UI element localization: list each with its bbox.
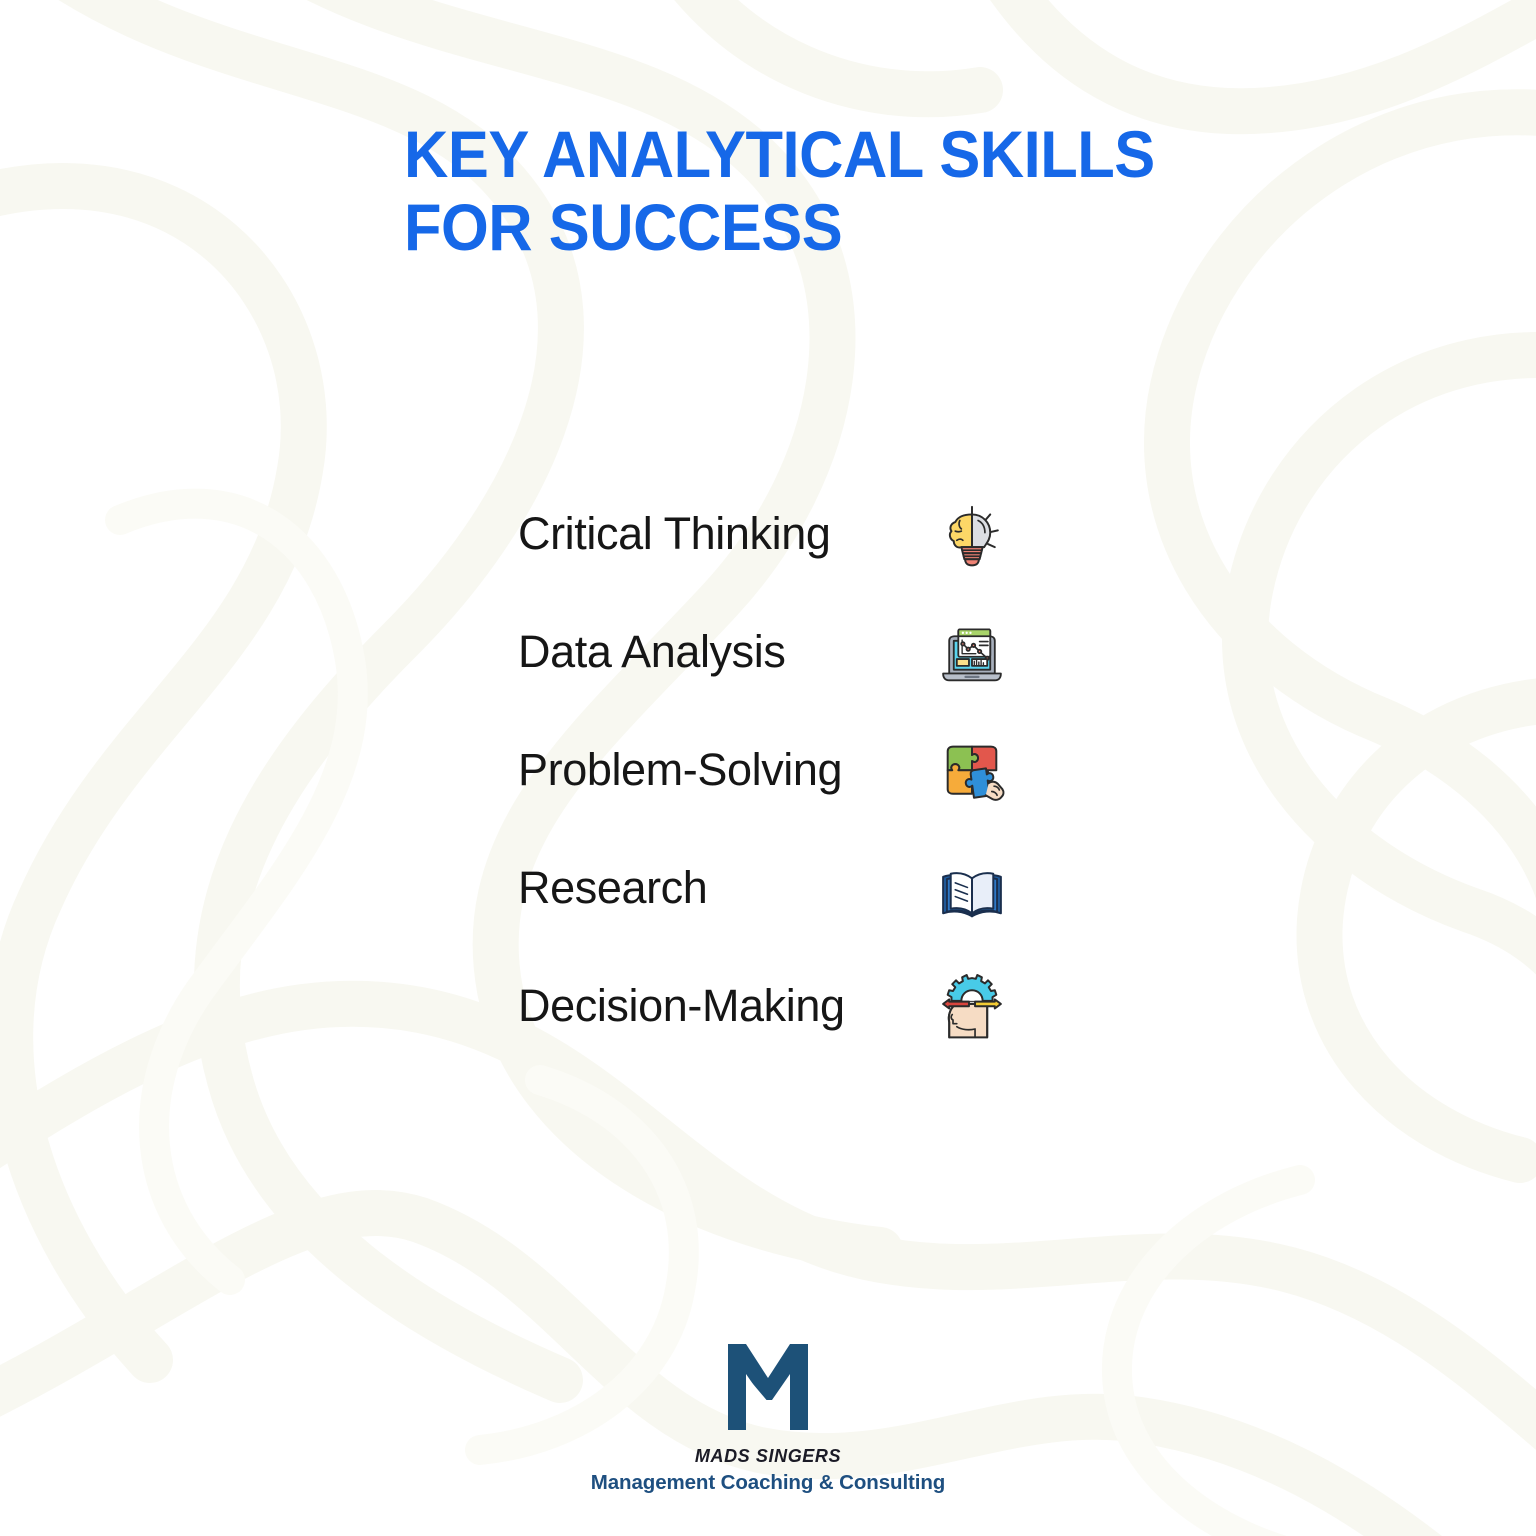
list-item: Decision-Making	[518, 972, 1058, 1090]
laptop-chart-icon	[934, 618, 1010, 694]
list-item: Critical Thinking	[518, 500, 1058, 618]
brand-tagline: Management Coaching & Consulting	[0, 1471, 1536, 1495]
page-title: KEY ANALYTICAL SKILLS FOR SUCCESS	[404, 118, 1167, 264]
list-item: Problem-Solving	[518, 736, 1058, 854]
list-item: Data Analysis	[518, 618, 1058, 736]
mads-singers-m-logo	[724, 1338, 812, 1434]
skill-label: Research	[518, 862, 707, 914]
brain-lightbulb-icon	[934, 500, 1010, 576]
poster-canvas: KEY ANALYTICAL SKILLS FOR SUCCESS Critic…	[0, 0, 1536, 1536]
head-gear-arrows-icon	[934, 972, 1010, 1048]
open-book-icon	[934, 854, 1010, 930]
list-item: Research	[518, 854, 1058, 972]
brand-footer: MADS SINGERS Management Coaching & Consu…	[0, 1338, 1536, 1495]
skill-label: Problem-Solving	[518, 744, 842, 796]
brand-name: MADS SINGERS	[0, 1446, 1536, 1467]
skill-label: Data Analysis	[518, 626, 785, 678]
skill-label: Decision-Making	[518, 980, 845, 1032]
puzzle-hand-icon	[934, 736, 1010, 812]
skills-list: Critical Thinking	[518, 500, 1058, 1090]
skill-label: Critical Thinking	[518, 508, 831, 560]
